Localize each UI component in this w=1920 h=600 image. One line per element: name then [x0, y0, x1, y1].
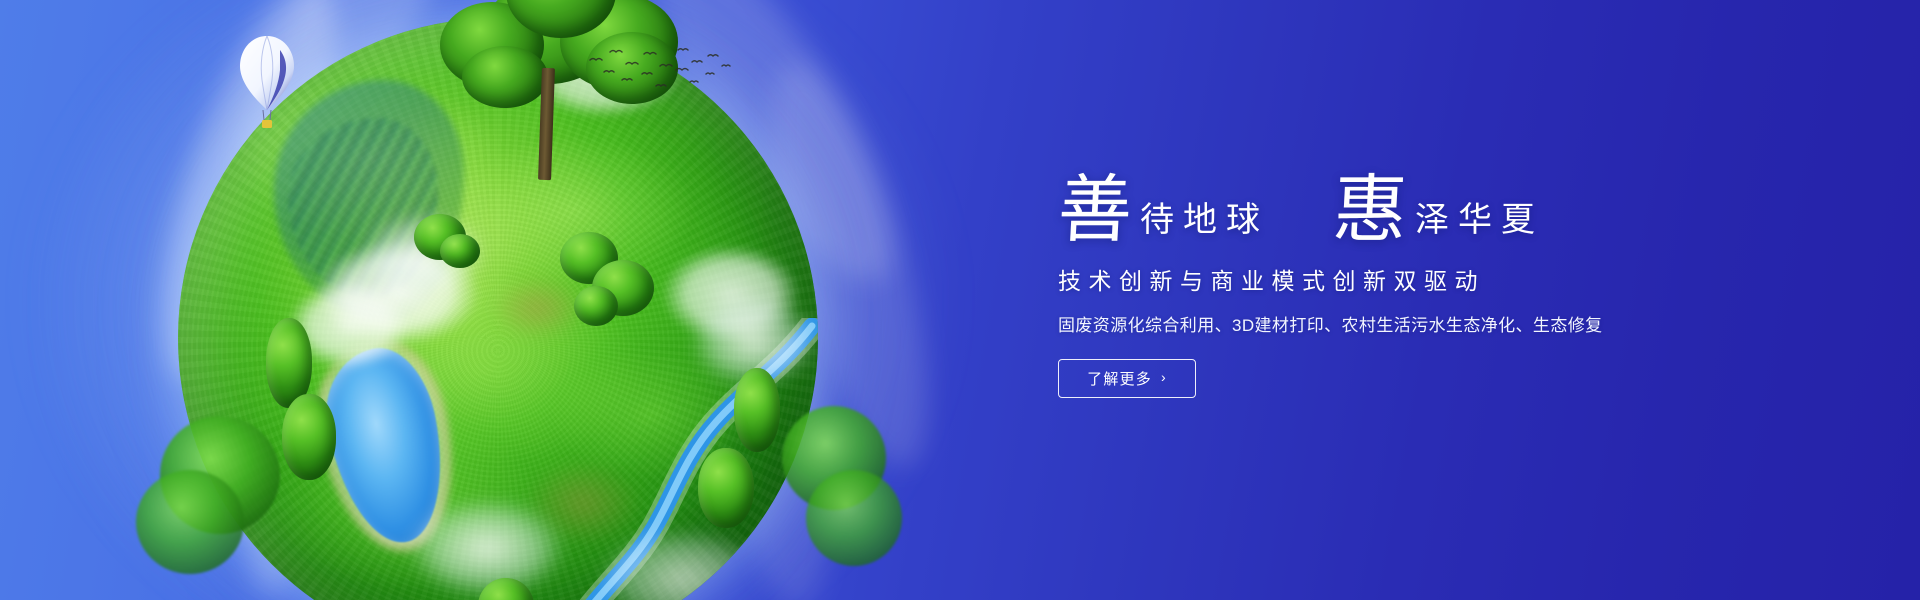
- globe-cloud: [298, 228, 498, 358]
- globe-mountain-ridge: [288, 118, 438, 298]
- globe-side-tree: [136, 470, 244, 574]
- globe-side-tree: [160, 416, 280, 534]
- globe-tree: [574, 286, 618, 326]
- chevron-right-icon: ›: [1161, 370, 1167, 384]
- globe-tree: [478, 578, 534, 600]
- globe-river: [478, 318, 818, 600]
- sky-haze: [0, 0, 1040, 600]
- globe-tree: [282, 394, 336, 480]
- headline-part-1: 善 待地球: [1058, 176, 1269, 246]
- globe-cloud: [348, 206, 498, 302]
- globe-tree: [592, 260, 654, 316]
- learn-more-label: 了解更多: [1087, 368, 1152, 389]
- globe-cloud: [582, 518, 782, 600]
- cloud-streak: [711, 246, 848, 600]
- globe-lake-shore: [303, 330, 471, 565]
- globe-tree: [734, 368, 780, 452]
- headline-part-2: 惠 泽华夏: [1333, 176, 1544, 246]
- globe-side-tree: [806, 470, 902, 566]
- globe-tree: [266, 318, 312, 408]
- learn-more-button[interactable]: 了解更多 ›: [1058, 359, 1196, 398]
- globe-cloud: [678, 286, 818, 396]
- globe-side-tree: [782, 406, 886, 510]
- page-title: 善 待地球 惠 泽华夏: [1058, 150, 1818, 246]
- sky-haze-inner: [40, 0, 860, 600]
- page-subtitle: 技术创新与商业模式创新双驱动: [1058, 268, 1818, 296]
- globe-tree: [698, 448, 754, 528]
- globe-cloud: [392, 488, 582, 600]
- globe-tree: [414, 214, 466, 260]
- globe-tree: [440, 234, 480, 268]
- globe-mountain-ridge: [274, 80, 464, 320]
- globe-lake: [314, 339, 457, 552]
- globe-tree: [560, 232, 618, 284]
- page-description: 固废资源化综合利用、3D建材打印、农村生活污水生态净化、生态修复: [1058, 315, 1818, 337]
- headline-part-2-big: 惠: [1331, 176, 1409, 246]
- globe-glow: [110, 0, 886, 600]
- birds-flock-icon: [586, 44, 736, 104]
- globe-cloud: [646, 234, 816, 354]
- hero-banner: 善 待地球 惠 泽华夏 技术创新与商业模式创新双驱动 固废资源化综合利用、3D建…: [0, 0, 1920, 600]
- hero-text-block: 善 待地球 惠 泽华夏 技术创新与商业模式创新双驱动 固废资源化综合利用、3D建…: [1058, 150, 1818, 398]
- cloud-streak: [225, 211, 354, 598]
- cloud-streak: [739, 48, 961, 482]
- headline-part-2-small: 泽华夏: [1415, 203, 1544, 246]
- headline-part-1-big: 善: [1056, 176, 1134, 246]
- globe-cloud: [274, 270, 424, 380]
- hot-air-balloon-icon: [236, 34, 298, 138]
- headline-part-1-small: 待地球: [1140, 203, 1269, 246]
